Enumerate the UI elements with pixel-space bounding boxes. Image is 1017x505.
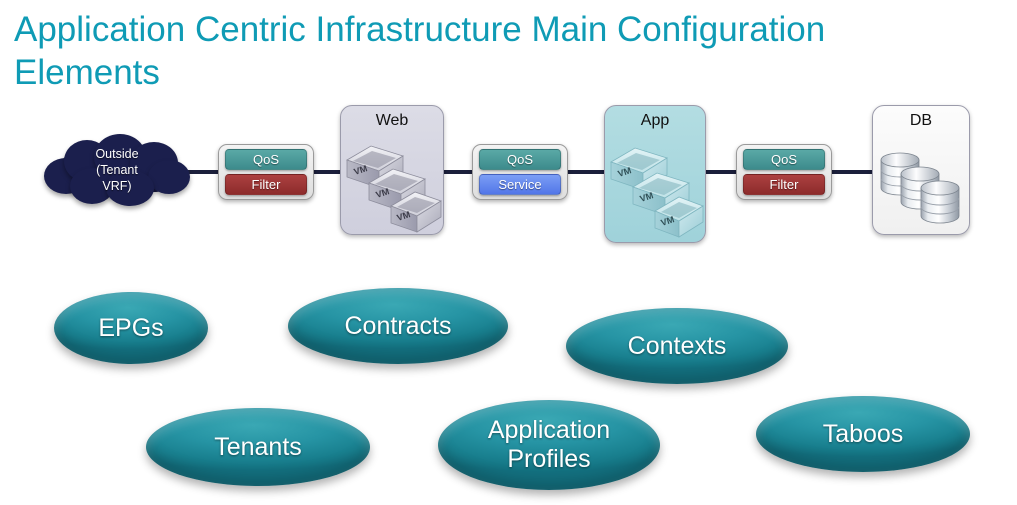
epg-db[interactable]: DB bbox=[872, 105, 970, 235]
wire-web-to-contract2 bbox=[440, 170, 476, 174]
qos-pill[interactable]: QoS bbox=[479, 149, 561, 170]
database-stack-icon bbox=[873, 144, 971, 234]
concept-label: Application Profiles bbox=[488, 416, 610, 474]
database-cylinder-3 bbox=[921, 181, 959, 223]
concept-ellipse-contexts[interactable]: Contexts bbox=[566, 308, 788, 384]
epg-web[interactable]: Web bbox=[340, 105, 444, 235]
concept-label: Taboos bbox=[823, 420, 904, 449]
vm-stack-svg: VM VM VM bbox=[605, 138, 707, 243]
concept-label: EPGs bbox=[98, 314, 163, 343]
slide-canvas: Application Centric Infrastructure Main … bbox=[0, 0, 1017, 505]
qos-pill[interactable]: QoS bbox=[743, 149, 825, 170]
vm-stack-icon: VM VM VM bbox=[341, 106, 443, 234]
concept-label: Contracts bbox=[345, 312, 452, 341]
epg-db-label: DB bbox=[873, 112, 969, 130]
concept-label: Contexts bbox=[628, 332, 727, 361]
concept-label: Tenants bbox=[214, 433, 302, 462]
page-title: Application Centric Infrastructure Main … bbox=[14, 8, 934, 94]
contract-box-2[interactable]: QoS Service bbox=[472, 144, 568, 200]
cloud-label-line-1: Outside bbox=[44, 146, 190, 162]
contract-box-1[interactable]: QoS Filter bbox=[218, 144, 314, 200]
filter-pill[interactable]: Filter bbox=[225, 174, 307, 195]
service-pill[interactable]: Service bbox=[479, 174, 561, 195]
epg-app[interactable]: App bbox=[604, 105, 706, 243]
cloud-label: Outside (Tenant VRF) bbox=[44, 146, 190, 194]
vm-stack-icon: VM VM VM bbox=[605, 106, 705, 242]
outside-tenant-vrf-cloud[interactable]: Outside (Tenant VRF) bbox=[44, 134, 190, 208]
contract-box-3[interactable]: QoS Filter bbox=[736, 144, 832, 200]
concept-ellipse-tenants[interactable]: Tenants bbox=[146, 408, 370, 486]
filter-pill[interactable]: Filter bbox=[743, 174, 825, 195]
qos-pill[interactable]: QoS bbox=[225, 149, 307, 170]
concept-ellipse-application-profiles[interactable]: Application Profiles bbox=[438, 400, 660, 490]
concept-ellipse-contracts[interactable]: Contracts bbox=[288, 288, 508, 364]
cloud-label-line-2: (Tenant bbox=[44, 162, 190, 178]
concept-ellipse-epgs[interactable]: EPGs bbox=[54, 292, 208, 364]
vm-stack-svg: VM VM VM bbox=[341, 138, 445, 238]
cloud-label-line-3: VRF) bbox=[44, 178, 190, 194]
wire-contract3-to-db bbox=[830, 170, 878, 174]
concept-ellipse-taboos[interactable]: Taboos bbox=[756, 396, 970, 472]
